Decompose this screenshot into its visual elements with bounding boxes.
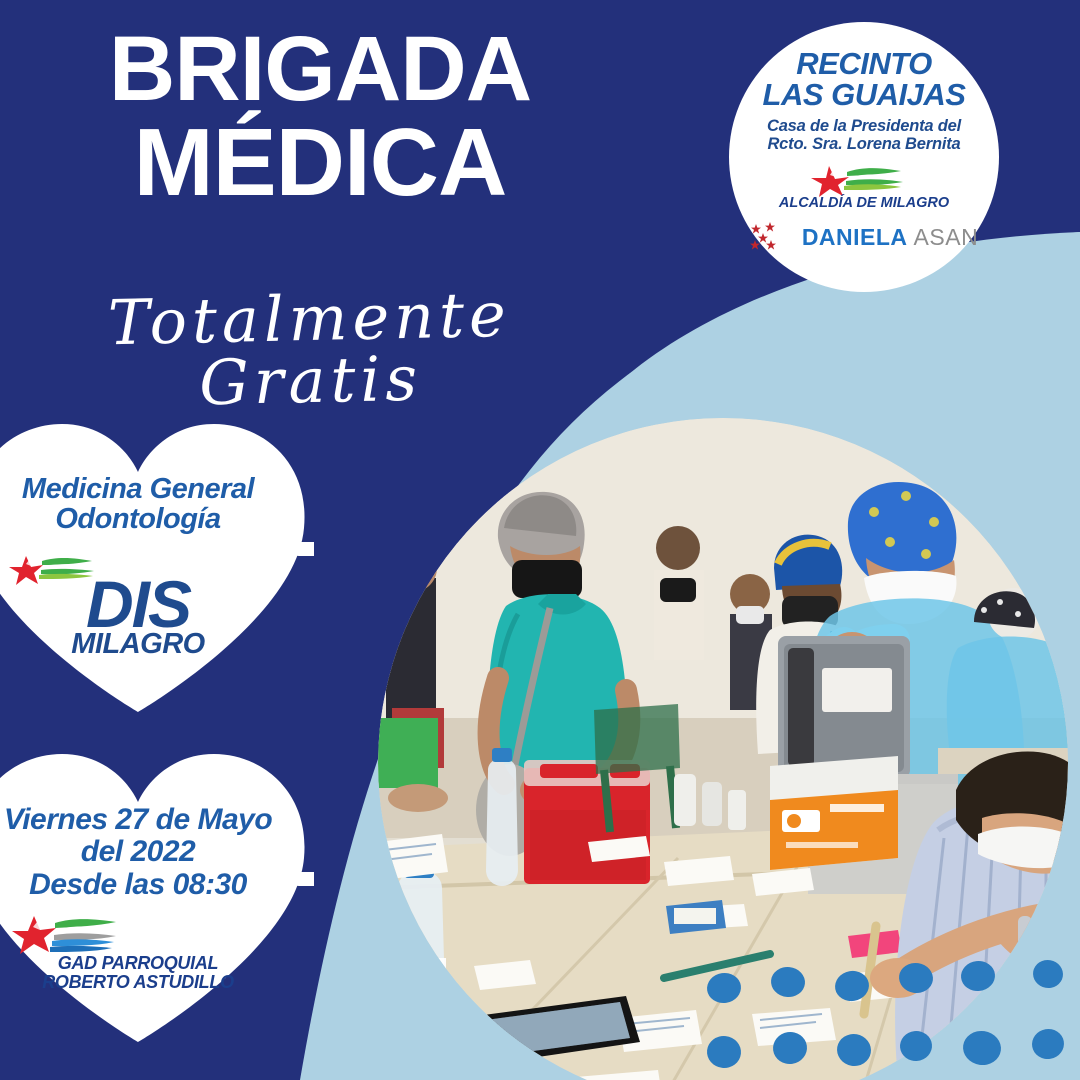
badge-title-line-1: RECINTO — [763, 48, 966, 79]
service-line-1: Medicina General — [0, 474, 276, 504]
five-stars-icon — [750, 222, 796, 252]
date-heart-content: Viernes 27 de Mayo del 2022 Desde las 08… — [0, 742, 314, 1052]
gad-label-line-2: ROBERTO ASTUDILLO — [0, 973, 276, 992]
date-line-2: del 2022 — [0, 836, 276, 868]
badge-subtitle-line-2: Rcto. Sra. Lorena Bernita — [767, 135, 961, 153]
date-text: Viernes 27 de Mayo del 2022 Desde las 08… — [0, 804, 276, 901]
page-title: BRIGADA MÉDICA — [0, 24, 640, 210]
date-line-3: Desde las 08:30 — [0, 869, 276, 901]
alcaldia-label: ALCALDÍA DE MILAGRO — [779, 195, 949, 211]
services-heart-content: Medicina General Odontología DIS MILAGRO — [0, 412, 314, 722]
dis-milagro-logo: DIS MILAGRO — [0, 554, 276, 659]
badge-title: RECINTO LAS GUAIJAS — [763, 48, 966, 110]
star-swoosh-icon — [789, 162, 939, 198]
services-text: Medicina General Odontología — [0, 474, 276, 535]
asan-surname: ASAN — [914, 224, 979, 251]
dot-pattern-decoration — [700, 952, 1080, 1080]
daniela-asan-logo: DANIELA ASAN — [750, 222, 978, 252]
date-line-1: Viernes 27 de Mayo — [0, 804, 276, 836]
daniela-name: DANIELA — [802, 224, 908, 251]
date-heart-card: Viernes 27 de Mayo del 2022 Desde las 08… — [0, 742, 314, 1052]
services-heart-card: Medicina General Odontología DIS MILAGRO — [0, 412, 314, 722]
title-line-1: BRIGADA — [0, 24, 640, 115]
venue-badge: RECINTO LAS GUAIJAS Casa de la President… — [729, 22, 999, 292]
poster-canvas: BRIGADA MÉDICA Totalmente Gratis RECINTO… — [0, 0, 1080, 1080]
dis-wordmark: DIS — [0, 576, 276, 632]
gad-label-line-1: GAD PARROQUIAL — [0, 954, 276, 973]
tagline-free: Totalmente Gratis — [0, 282, 621, 419]
dis-sublabel: MILAGRO — [0, 630, 276, 659]
badge-subtitle-line-1: Casa de la Presidenta del — [767, 117, 961, 135]
title-line-2: MÉDICA — [0, 115, 640, 210]
badge-subtitle: Casa de la Presidenta del Rcto. Sra. Lor… — [767, 117, 961, 153]
alcaldia-logo: ALCALDÍA DE MILAGRO — [779, 162, 949, 211]
badge-title-line-2: LAS GUAIJAS — [763, 79, 966, 110]
gad-label: GAD PARROQUIAL ROBERTO ASTUDILLO — [0, 954, 276, 992]
service-line-2: Odontología — [0, 504, 276, 534]
gad-parroquial-logo: GAD PARROQUIAL ROBERTO ASTUDILLO — [0, 914, 276, 992]
